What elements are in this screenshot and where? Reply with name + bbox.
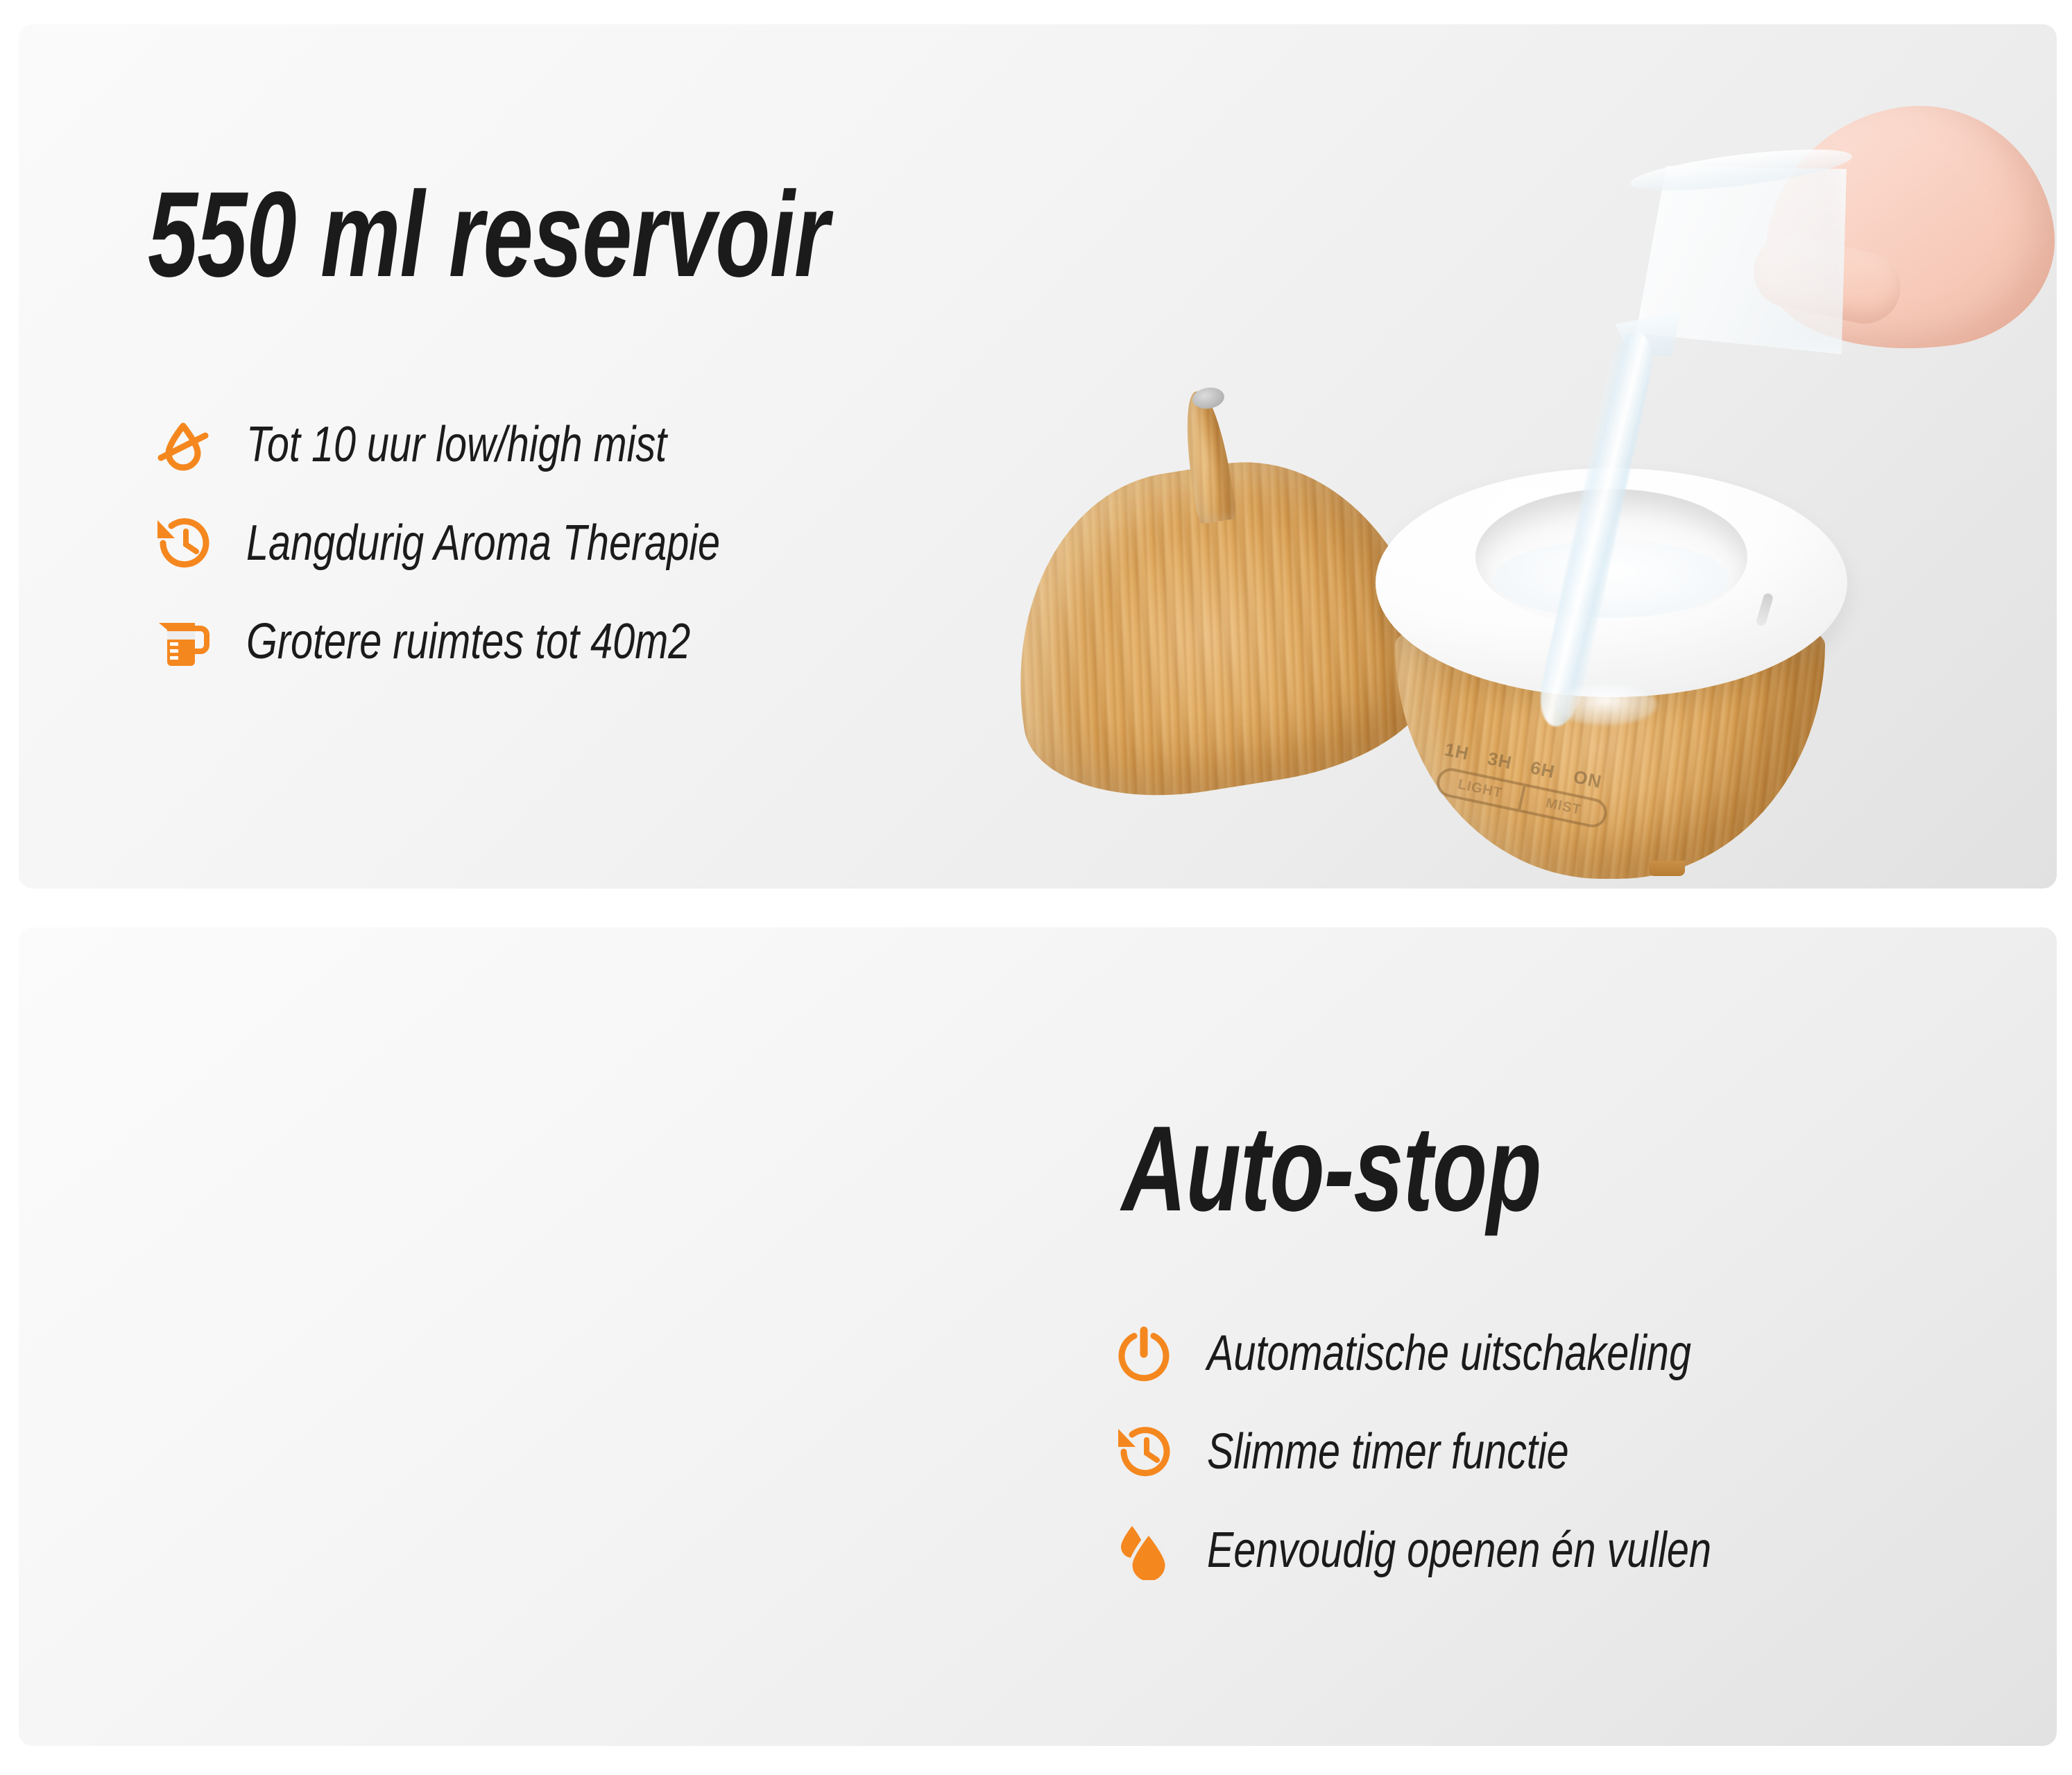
feature-item-room-size: Grotere ruimtes tot 40m2 [149, 592, 839, 691]
power-icon [1110, 1319, 1178, 1387]
base-timer-label-3h: 3H [1486, 748, 1514, 774]
feature-list-autostop: Automatische uitschakeling Slimme timer … [1110, 1304, 1838, 1600]
water-drops-icon [1110, 1516, 1178, 1584]
clock-rewind-icon [149, 509, 217, 577]
hand-pouring-water-photo [1614, 108, 2044, 496]
feature-item-aroma-therapy: Langdurig Aroma Therapie [149, 494, 839, 592]
feature-label: Tot 10 uur low/high mist [246, 416, 667, 473]
feature-list-reservoir: Tot 10 uur low/high mist Langdurig Aroma… [149, 395, 839, 691]
page-title-autostop: Auto-stop [1122, 1099, 1541, 1239]
clock-rewind-icon [1110, 1418, 1178, 1486]
base-timer-label-6h: 6H [1529, 757, 1557, 783]
feature-item-smart-timer: Slimme timer functie [1110, 1403, 1838, 1501]
water-splash [1553, 685, 1657, 725]
feature-item-easy-fill: Eenvoudig openen én vullen [1110, 1501, 1838, 1600]
feature-label: Langdurig Aroma Therapie [246, 515, 720, 572]
water-drop-slash-icon [149, 411, 217, 479]
diffuser-base-foot [1649, 861, 1685, 876]
feature-label: Grotere ruimtes tot 40m2 [246, 613, 690, 670]
base-timer-label-1h: 1H [1443, 739, 1471, 765]
feature-item-auto-shutoff: Automatische uitschakeling [1110, 1304, 1838, 1403]
feature-label: Eenvoudig openen én vullen [1207, 1522, 1711, 1579]
feature-label: Slimme timer functie [1207, 1423, 1569, 1480]
feature-label: Automatische uitschakeling [1207, 1325, 1691, 1382]
measuring-jug-icon [149, 608, 217, 676]
base-light-button[interactable]: LIGHT [1437, 769, 1523, 809]
page-title-reservoir: 550 ml reservoir [148, 165, 829, 305]
base-mist-button[interactable]: MIST [1518, 786, 1606, 827]
feature-item-mist-duration: Tot 10 uur low/high mist [149, 395, 839, 494]
